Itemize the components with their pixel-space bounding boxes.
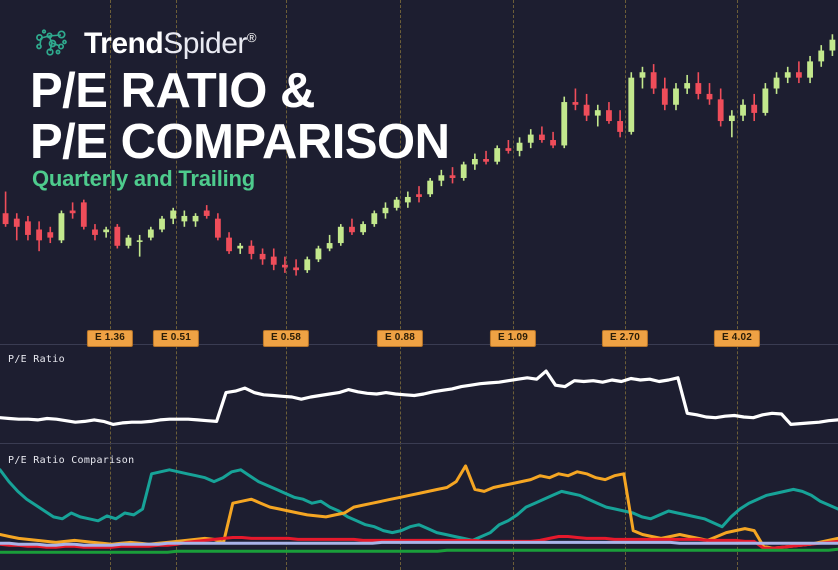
- series-P/E Ratio: [0, 371, 838, 424]
- pe-ratio-comparison-pane-label: P/E Ratio Comparison: [8, 455, 134, 466]
- spider-network-icon: [30, 24, 74, 64]
- trendspider-chart-screenshot: TrendSpider® P/E RATIO & P/E COMPARISON …: [0, 0, 838, 570]
- title-line-2: P/E COMPARISON: [30, 119, 450, 166]
- series-lavender-series: [0, 542, 838, 545]
- earnings-badge-1[interactable]: E 0.51: [153, 330, 199, 347]
- pe-ratio-pane-label: P/E Ratio: [8, 354, 65, 365]
- title-line-1: P/E RATIO &: [30, 64, 315, 118]
- brand-logo: TrendSpider®: [30, 24, 256, 64]
- series-teal-series: [0, 470, 838, 541]
- brand-name-light: Spider: [163, 27, 247, 60]
- series-orange-series: [0, 466, 838, 548]
- brand-name-bold: Trend: [84, 27, 163, 60]
- earnings-badge-6[interactable]: E 4.02: [714, 330, 760, 347]
- series-green-series: [0, 549, 838, 552]
- registered-mark: ®: [247, 30, 256, 45]
- brand-wordmark: TrendSpider®: [84, 29, 256, 59]
- earnings-badge-3[interactable]: E 0.88: [377, 330, 423, 347]
- pe-comparison-series: [0, 448, 838, 570]
- page-subtitle: Quarterly and Trailing: [32, 166, 255, 192]
- page-title: P/E RATIO & P/E COMPARISON: [30, 68, 450, 165]
- pe-ratio-pane[interactable]: [0, 346, 838, 442]
- pe-ratio-comparison-pane[interactable]: [0, 448, 838, 570]
- earnings-badge-2[interactable]: E 0.58: [263, 330, 309, 347]
- earnings-badge-4[interactable]: E 1.09: [490, 330, 536, 347]
- earnings-badge-5[interactable]: E 2.70: [602, 330, 648, 347]
- earnings-badge-0[interactable]: E 1.36: [87, 330, 133, 347]
- pe-ratio-line: [0, 346, 838, 442]
- pane-separator-2: [0, 443, 838, 444]
